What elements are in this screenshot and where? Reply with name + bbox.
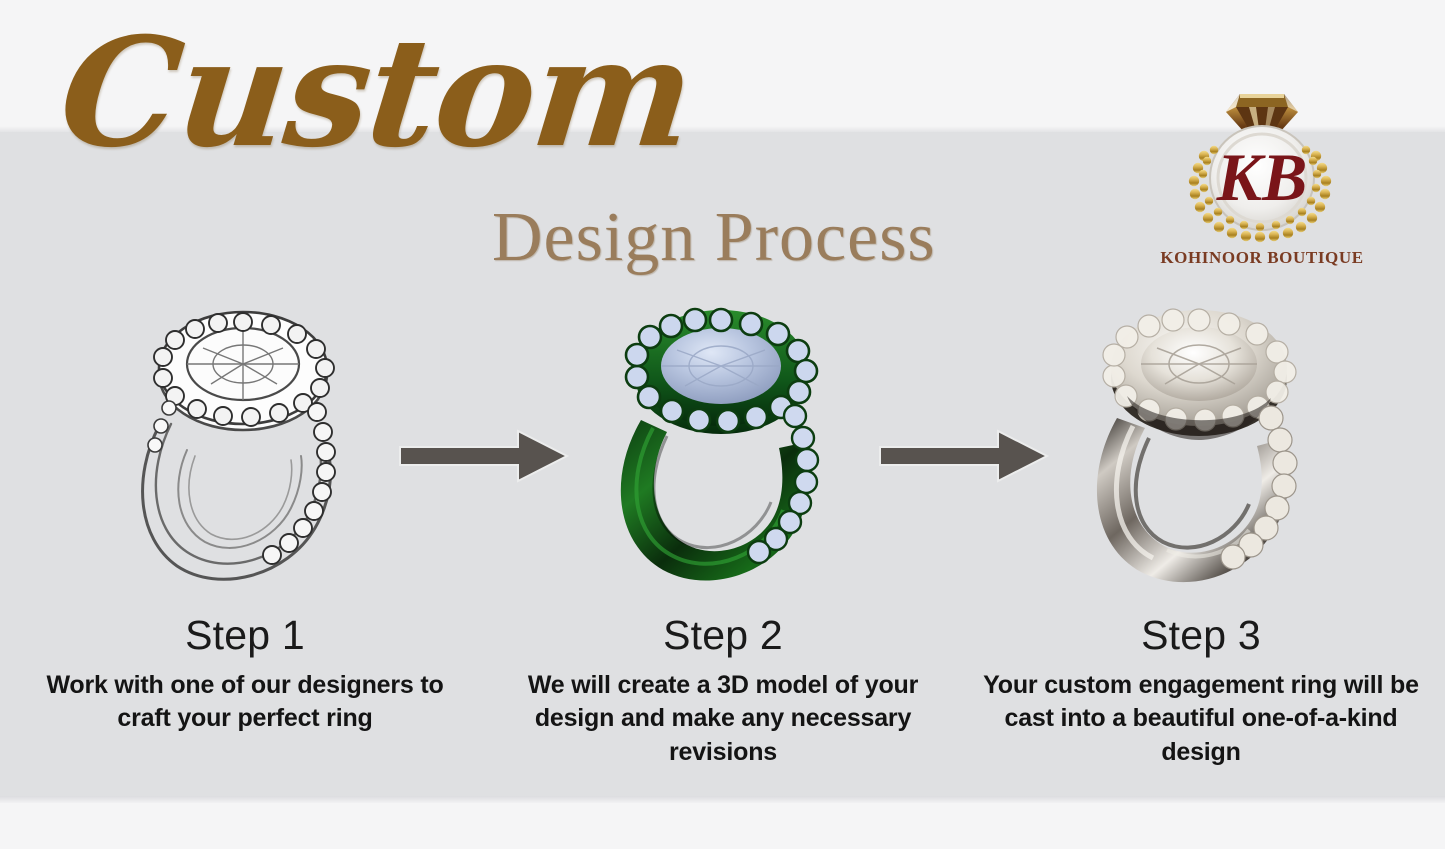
step-card-1: Step 1 Work with one of our designers to…	[5, 300, 485, 736]
step-2-description: We will create a 3D model of your design…	[483, 669, 963, 769]
ring-finished-photo-icon	[1071, 300, 1331, 590]
ring-sketch-line-art-icon	[115, 300, 375, 590]
step-2-title: Step 2	[483, 614, 963, 657]
background-band-bottom	[0, 801, 1445, 849]
step-2-image-stage	[483, 300, 963, 600]
kb-monogram-text: KB	[1216, 139, 1308, 215]
brand-logo[interactable]: KB KOHINOOR BOUTIQUE	[1148, 58, 1376, 280]
step-3-image-stage	[961, 300, 1441, 600]
step-card-2: Step 2 We will create a 3D model of your…	[483, 300, 963, 769]
custom-design-process-poster: Custom Design Process	[0, 0, 1445, 849]
step-1-description: Work with one of our designers to craft …	[5, 669, 485, 736]
kohinoor-boutique-logo-icon: KB	[1148, 58, 1376, 248]
step-1-image-stage	[5, 300, 485, 600]
step-1-title: Step 1	[5, 614, 485, 657]
logo-caption-text: KOHINOOR BOUTIQUE	[1148, 248, 1376, 268]
ring-3d-cad-model-icon	[593, 300, 853, 590]
headline-custom-script: Custom	[54, 18, 710, 168]
background-seam-lower	[0, 796, 1445, 803]
headline-design-process: Design Process	[492, 203, 936, 273]
step-card-3: Step 3 Your custom engagement ring will …	[961, 300, 1441, 769]
step-3-description: Your custom engagement ring will be cast…	[961, 669, 1441, 769]
step-3-title: Step 3	[961, 614, 1441, 657]
